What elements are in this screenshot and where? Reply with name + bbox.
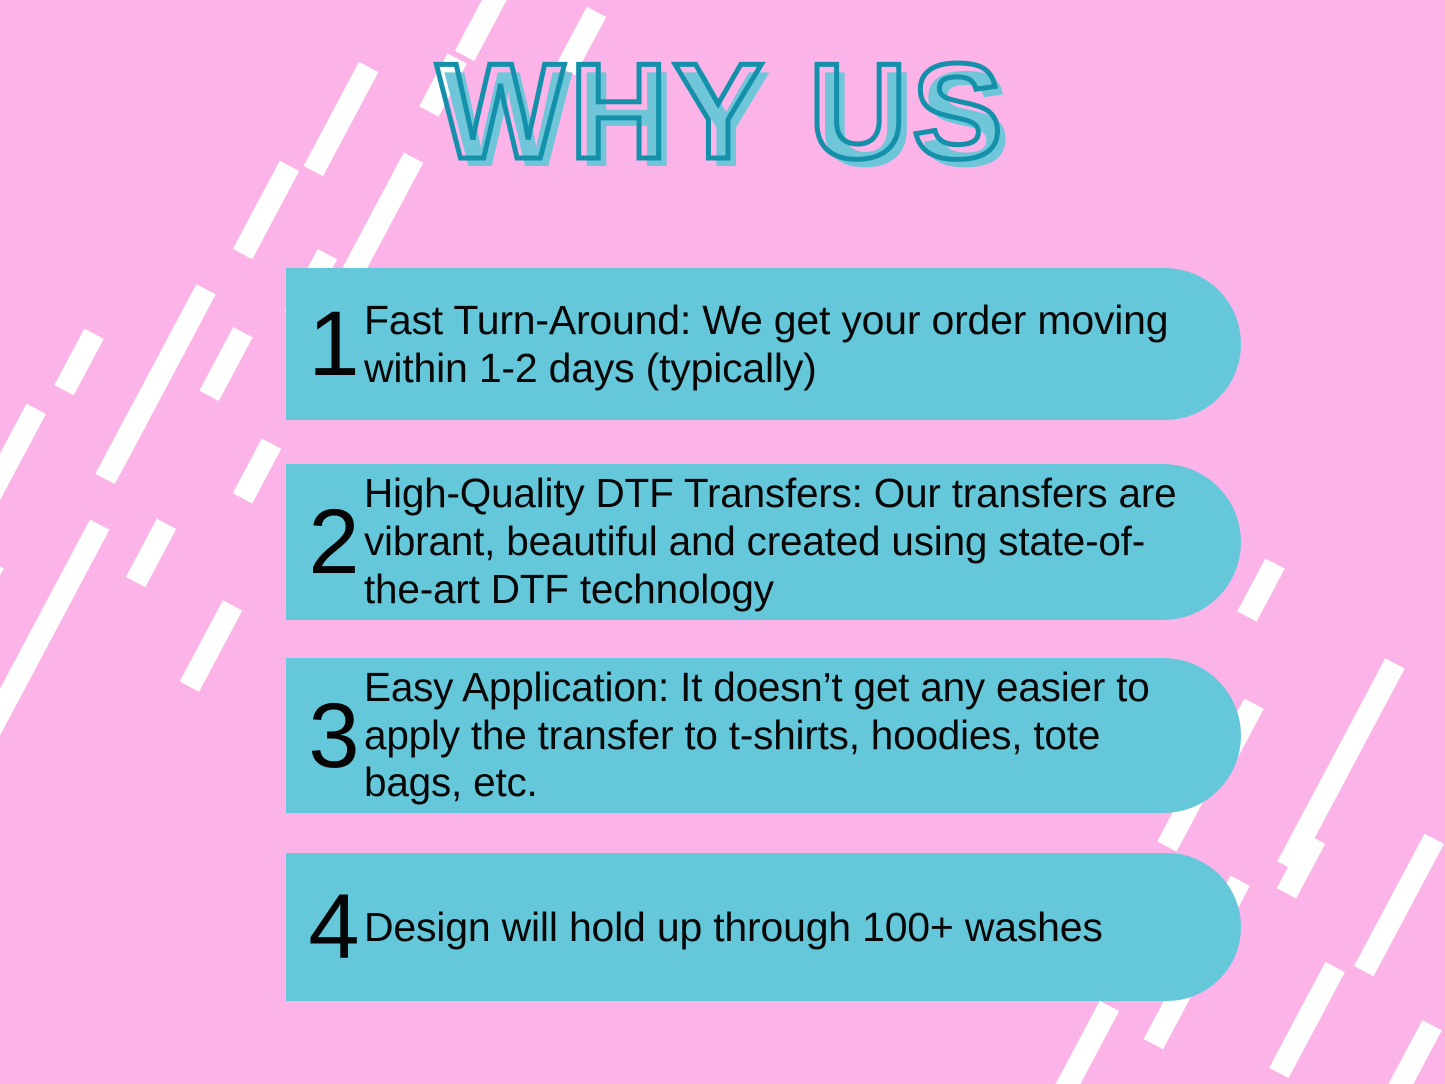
list-item-number: 2	[286, 496, 364, 588]
list-item-text: Easy Application: It doesn’t get any eas…	[364, 664, 1241, 807]
list-item-number: 4	[286, 881, 364, 973]
poster-title: WHY US WHY US	[0, 38, 1445, 198]
why-us-poster: WHY US WHY US 1 Fast Turn-Around: We get…	[0, 0, 1445, 1084]
stripe	[95, 414, 146, 484]
stripe	[54, 329, 103, 396]
list-item-text: Fast Turn-Around: We get your order movi…	[364, 296, 1241, 393]
stripe	[1354, 834, 1444, 977]
stripe	[1277, 658, 1404, 871]
stripe	[106, 284, 216, 464]
list-item: 1 Fast Turn-Around: We get your order mo…	[286, 268, 1241, 420]
list-item: 4 Design will hold up through 100+ washe…	[286, 853, 1241, 1001]
stripe	[0, 558, 4, 618]
list-item: 3 Easy Application: It doesn’t get any e…	[286, 658, 1241, 813]
stripe	[0, 519, 109, 750]
title-artwork: WHY US WHY US	[0, 38, 1445, 198]
list-item-number: 1	[286, 298, 364, 390]
stripe	[199, 327, 252, 401]
stripe	[126, 519, 176, 588]
title-outline-text: WHY US	[436, 35, 1008, 187]
list-item-number: 3	[286, 690, 364, 782]
list-item: 2 High-Quality DTF Transfers: Our transf…	[286, 464, 1241, 620]
stripe	[233, 438, 282, 503]
list-item-text: High-Quality DTF Transfers: Our transfer…	[364, 470, 1241, 613]
stripe	[1053, 1001, 1119, 1084]
stripe	[1380, 1020, 1442, 1084]
stripe	[0, 404, 46, 547]
list-item-text: Design will hold up through 100+ washes	[364, 903, 1241, 951]
reasons-list: 1 Fast Turn-Around: We get your order mo…	[286, 268, 1286, 1001]
stripe	[180, 600, 243, 692]
